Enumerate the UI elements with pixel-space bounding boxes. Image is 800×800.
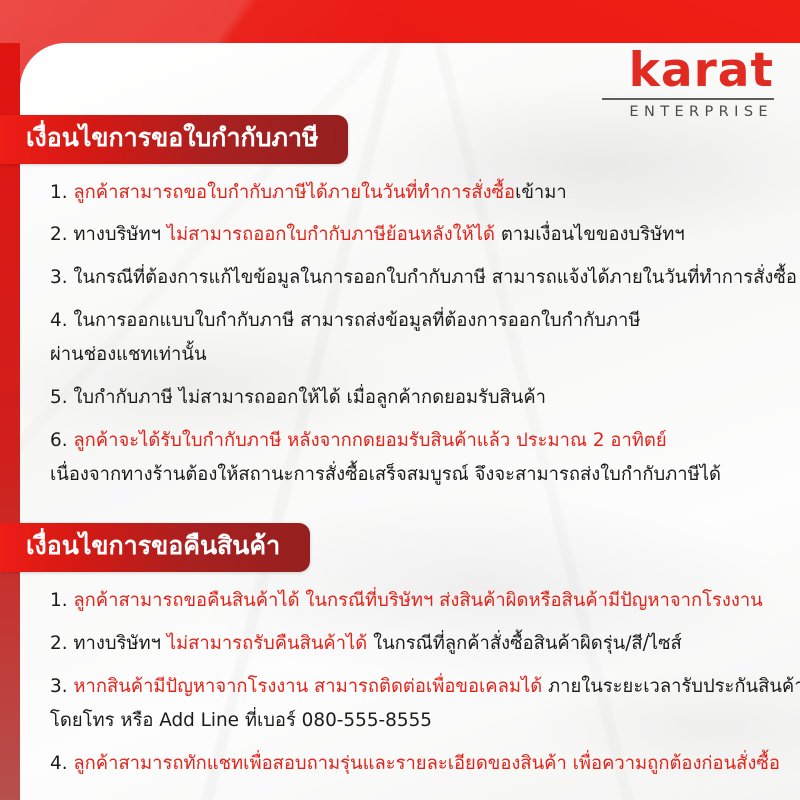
condition-item-continuation: โดยโทร หรือ Add Line ที่เบอร์ 080-555-85…	[50, 707, 778, 735]
tax-invoice-list: 1. ลูกค้าสามารถขอใบกำกับภาษีได้ภายในวันท…	[20, 179, 800, 490]
text-fragment-normal: ใบกำกับภาษี ไม่สามารถออกให้ได้ เมื่อลูกค…	[73, 387, 546, 408]
condition-item-continuation: เนื่องจากทางร้านต้องให้สถานะการสั่งซื้อเ…	[50, 461, 778, 489]
section-title-product-return: เงื่อนไขการขอคืนสินค้า	[0, 523, 310, 572]
condition-item: 5. ใบกำกับภาษี ไม่สามารถออกให้ได้ เมื่อล…	[50, 384, 778, 412]
text-fragment-normal: ทางบริษัทฯ	[73, 633, 166, 654]
condition-item: 6. ลูกค้าจะได้รับใบกำกับภาษี หลังจากกดยอ…	[50, 427, 778, 455]
text-fragment-normal: ในการออกแบบใบกำกับภาษี สามารถส่งข้อมูลที…	[73, 310, 640, 331]
text-fragment-highlight: ลูกค้าสามารถขอคืนสินค้าได้ ในกรณีที่บริษ…	[73, 590, 762, 611]
condition-item: 4. ในการออกแบบใบกำกับภาษี สามารถส่งข้อมู…	[50, 307, 778, 335]
text-fragment-highlight: ไม่สามารถรับคืนสินค้าได้	[167, 633, 367, 654]
text-fragment-normal: ตามเงื่อนไขของบริษัทฯ	[495, 224, 685, 245]
text-fragment-normal: ในกรณีที่ต้องการแก้ไขข้อมูลในการออกใบกำก…	[73, 267, 796, 288]
section-product-return: เงื่อนไขการขอคืนสินค้า 1. ลูกค้าสามารถขอ…	[20, 523, 800, 777]
condition-item-continuation: ผ่านช่องแชทเท่านั้น	[50, 341, 778, 369]
item-number: 2.	[50, 633, 73, 654]
brand-tagline: ENTERPRISE	[596, 104, 774, 120]
product-return-list: 1. ลูกค้าสามารถขอคืนสินค้าได้ ในกรณีที่บ…	[20, 587, 800, 778]
text-fragment-highlight: หากสินค้ามีปัญหาจากโรงงาน สามารถติดต่อเพ…	[73, 676, 542, 697]
text-fragment-normal: เนื่องจากทางร้านต้องให้สถานะการสั่งซื้อเ…	[50, 464, 721, 485]
section-header-wrap: เงื่อนไขการขอคืนสินค้า	[0, 523, 800, 572]
text-fragment-highlight: ลูกค้าสามารถทักแชทเพื่อสอบถามรุ่นและรายล…	[73, 753, 780, 774]
item-number: 4.	[50, 753, 73, 774]
item-number: 1.	[50, 590, 73, 611]
item-number: 4.	[50, 310, 73, 331]
terms-content: เงื่อนไขการขอใบกำกับภาษี 1. ลูกค้าสามารถ…	[20, 43, 800, 800]
text-fragment-normal: ผ่านช่องแชทเท่านั้น	[50, 344, 207, 365]
logo-divider	[602, 98, 774, 100]
condition-item: 1. ลูกค้าสามารถขอใบกำกับภาษีได้ภายในวันท…	[50, 179, 778, 207]
text-fragment-normal: ภายในระยะเวลารับประกันสินค้า	[542, 676, 800, 697]
text-fragment-normal: โดยโทร หรือ Add Line ที่เบอร์ 080-555-85…	[50, 710, 432, 731]
text-fragment-normal: เข้ามา	[515, 182, 567, 203]
text-fragment-highlight: ลูกค้าสามารถขอใบกำกับภาษีได้ภายในวันที่ท…	[73, 182, 515, 203]
condition-item: 4. ลูกค้าสามารถทักแชทเพื่อสอบถามรุ่นและร…	[50, 750, 778, 778]
section-tax-invoice: เงื่อนไขการขอใบกำกับภาษี 1. ลูกค้าสามารถ…	[20, 115, 800, 489]
item-number: 3.	[50, 267, 73, 288]
item-number: 2.	[50, 224, 73, 245]
condition-item: 3. ในกรณีที่ต้องการแก้ไขข้อมูลในการออกใบ…	[50, 264, 778, 292]
item-number: 1.	[50, 182, 73, 203]
text-fragment-highlight: ไม่สามารถออกใบกำกับภาษีย้อนหลังให้ได้	[167, 224, 495, 245]
text-fragment-normal: ทางบริษัทฯ	[73, 224, 166, 245]
condition-item: 1. ลูกค้าสามารถขอคืนสินค้าได้ ในกรณีที่บ…	[50, 587, 778, 615]
section-header-wrap: เงื่อนไขการขอใบกำกับภาษี	[0, 115, 800, 164]
brand-logo: karat ENTERPRISE	[596, 48, 774, 120]
text-fragment-highlight: ลูกค้าจะได้รับใบกำกับภาษี หลังจากกดยอมรั…	[73, 430, 666, 451]
item-number: 3.	[50, 676, 73, 697]
condition-item: 2. ทางบริษัทฯ ไม่สามารถรับคืนสินค้าได้ ใ…	[50, 630, 778, 658]
text-fragment-normal: ในกรณีที่ลูกค้าสั่งซื้อสินค้าผิดรุ่น/สี/…	[367, 633, 682, 654]
section-title-tax-invoice: เงื่อนไขการขอใบกำกับภาษี	[0, 115, 348, 164]
item-number: 6.	[50, 430, 73, 451]
condition-item: 2. ทางบริษัทฯ ไม่สามารถออกใบกำกับภาษีย้อ…	[50, 221, 778, 249]
condition-item: 3. หากสินค้ามีปัญหาจากโรงงาน สามารถติดต่…	[50, 673, 778, 701]
item-number: 5.	[50, 387, 73, 408]
brand-name: karat	[596, 48, 774, 93]
